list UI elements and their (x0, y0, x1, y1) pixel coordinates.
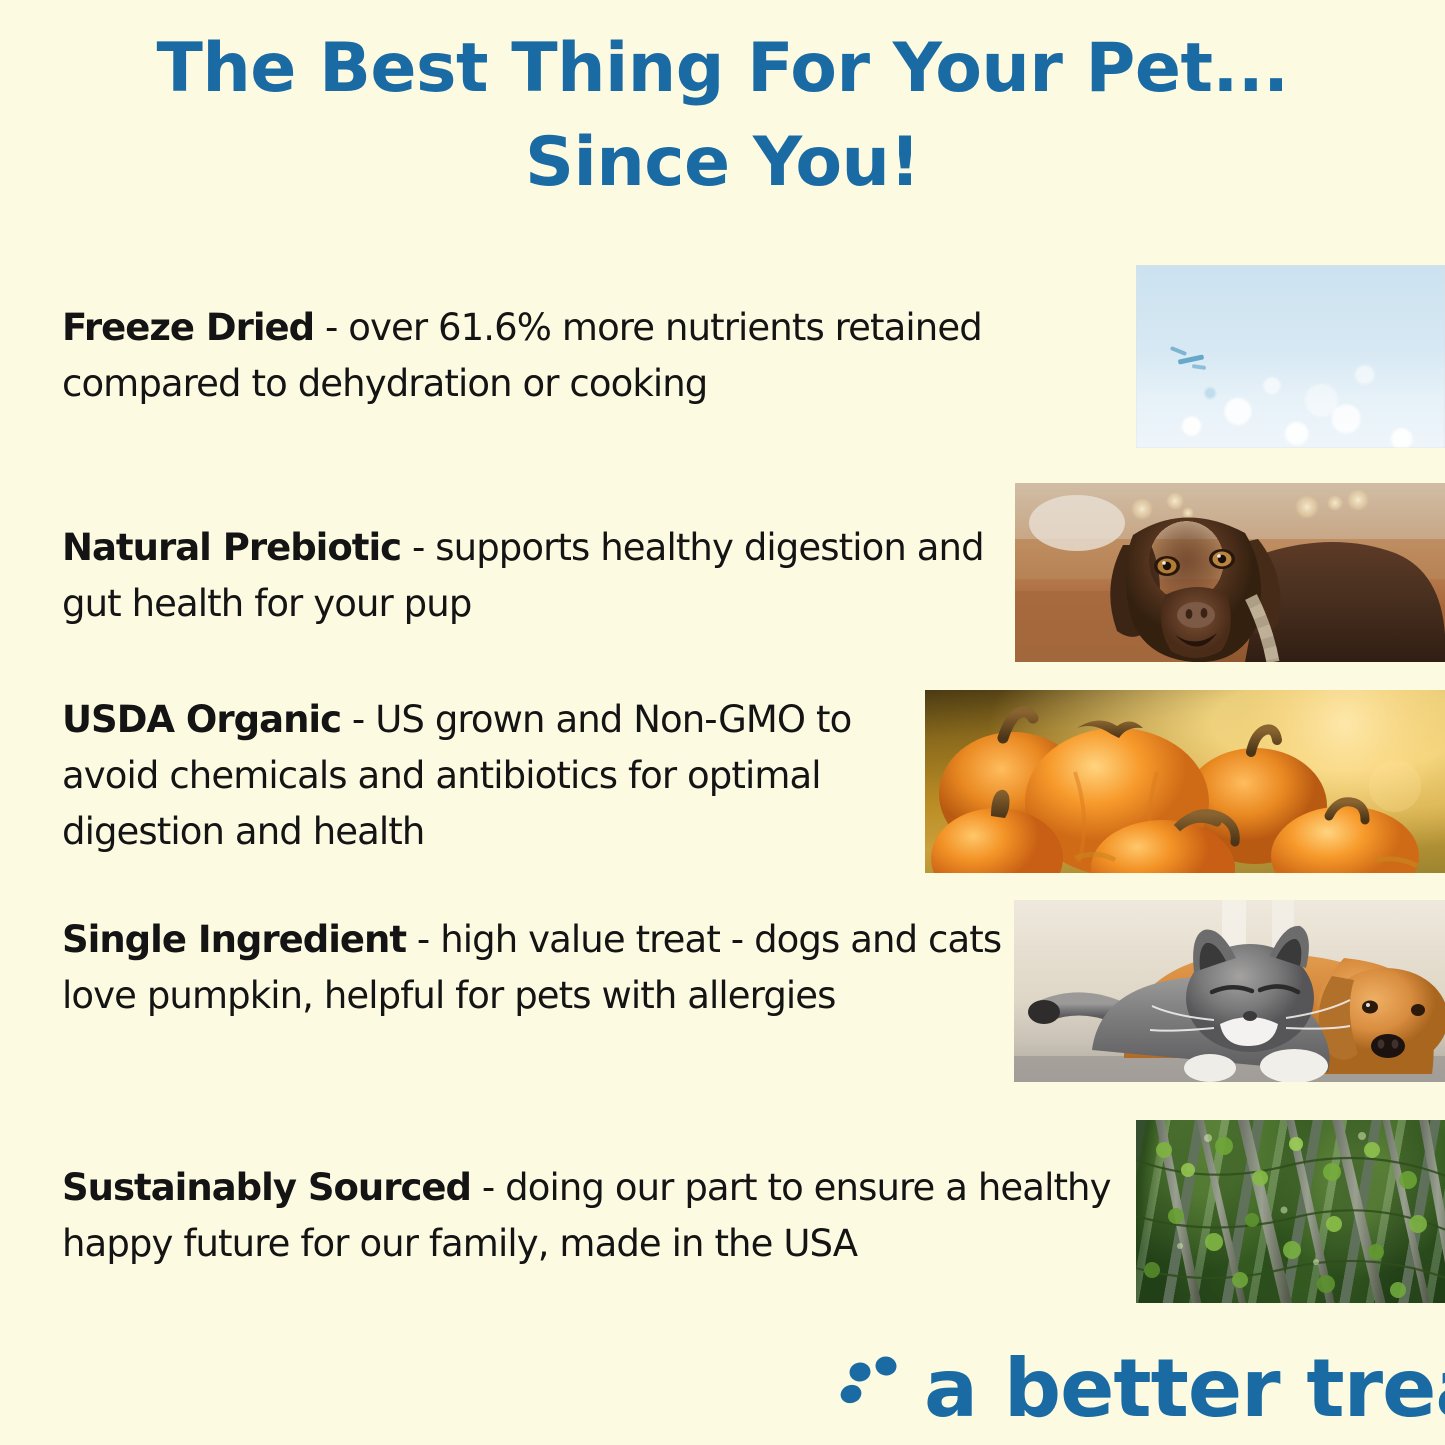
feature-item-sustainably-sourced: Sustainably Sourced - doing our part to … (62, 1160, 1122, 1272)
feature-lead: Freeze Dried (62, 306, 314, 349)
brand-logo: a better treat (838, 1348, 1438, 1436)
feature-item-natural-prebiotic: Natural Prebiotic - supports healthy dig… (62, 520, 1022, 632)
cat-and-dog-illustration (1014, 900, 1445, 1082)
page-title-line-2: Since You! (0, 116, 1445, 210)
pumpkins-photo (925, 690, 1445, 873)
frost-texture (1136, 265, 1445, 448)
pumpkins-illustration (925, 690, 1445, 873)
page-title-line-1: The Best Thing For Your Pet... (0, 22, 1445, 116)
brand-logo-text: a better treat (924, 1342, 1445, 1435)
paw-print-icon (838, 1354, 918, 1430)
feature-lead: USDA Organic (62, 698, 341, 741)
feature-lead: Single Ingredient (62, 918, 406, 961)
feature-item-usda-organic: USDA Organic - US grown and Non-GMO to a… (62, 692, 942, 861)
cat-and-dog-photo (1014, 900, 1445, 1082)
feature-item-single-ingredient: Single Ingredient - high value treat - d… (62, 912, 1007, 1024)
frost-ice-photo (1136, 265, 1445, 448)
chocolate-labrador-photo (1015, 483, 1445, 662)
feature-lead: Natural Prebiotic (62, 526, 401, 569)
page-title: The Best Thing For Your Pet... Since You… (0, 22, 1445, 210)
feature-item-freeze-dried: Freeze Dried - over 61.6% more nutrients… (62, 300, 1062, 412)
green-forest-photo (1136, 1120, 1445, 1303)
feature-lead: Sustainably Sourced (62, 1166, 471, 1209)
forest-illustration (1136, 1120, 1445, 1303)
